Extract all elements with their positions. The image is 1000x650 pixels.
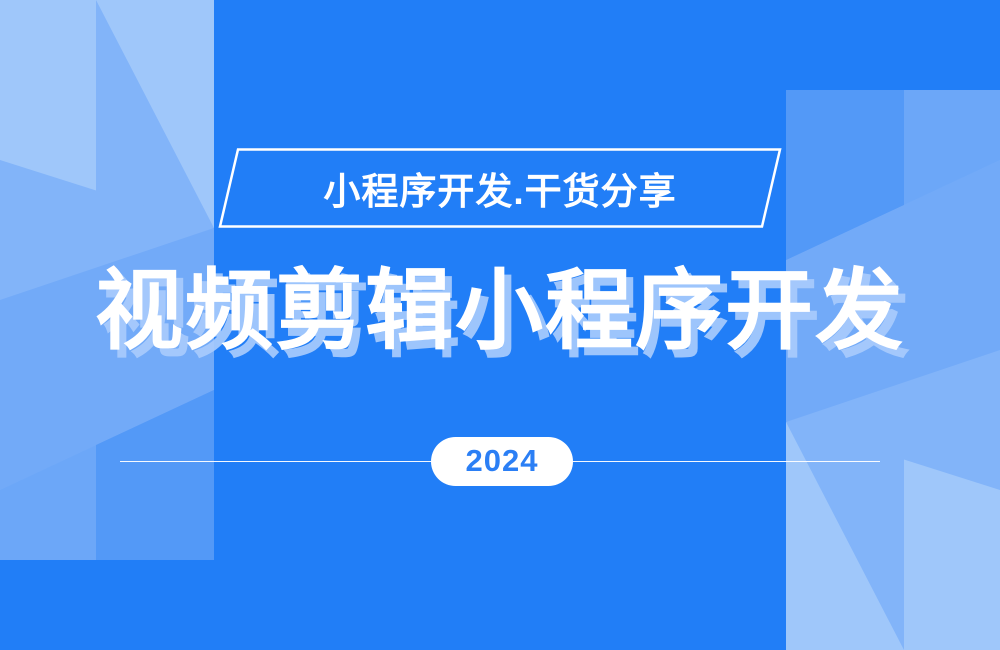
title-container: 视频剪辑小程序开发 [0, 256, 1000, 366]
year-row: 2024 [0, 436, 1000, 486]
divider-line-left [120, 461, 431, 462]
subtitle-text: 小程序开发.干货分享 [0, 148, 1000, 228]
year-badge: 2024 [431, 437, 573, 486]
promo-banner: 小程序开发.干货分享 视频剪辑小程序开发 2024 [0, 0, 1000, 650]
divider-line-right [573, 461, 880, 462]
page-title: 视频剪辑小程序开发 [95, 267, 905, 355]
subtitle-container: 小程序开发.干货分享 [0, 148, 1000, 228]
